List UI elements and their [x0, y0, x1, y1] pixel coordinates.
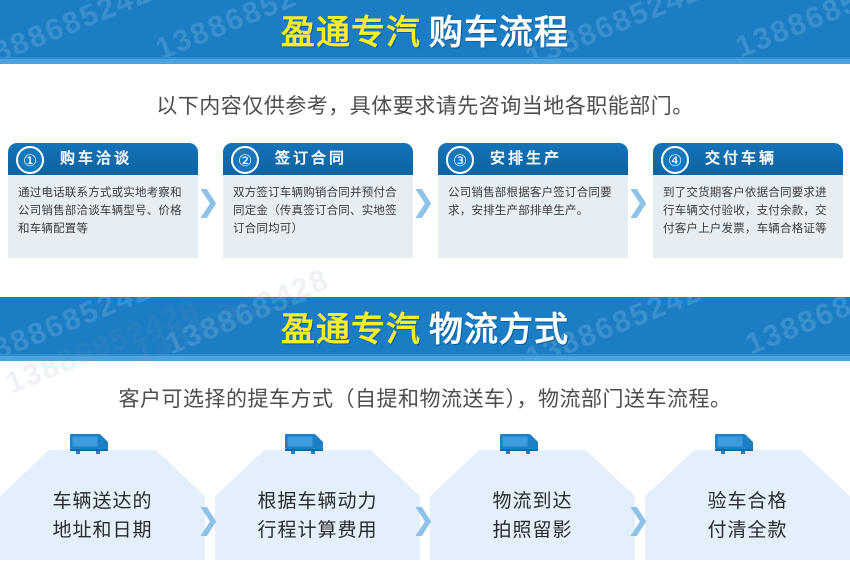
purchase-step-2-title: 签订合同 [275, 143, 347, 175]
logistics-step-3-line2: 拍照留影 [430, 516, 635, 545]
chevron-right-icon: ❯ [196, 505, 218, 535]
truck-icon [283, 431, 327, 457]
logistics-step-3[interactable]: 物流到达 拍照留影 [430, 425, 635, 560]
brand-name: 盈通专汽 [281, 302, 421, 351]
chevron-right-icon: ❯ [411, 505, 433, 535]
logistics-step-2-line2: 行程计算费用 [215, 516, 420, 545]
banner-stripe [0, 59, 850, 64]
logistics-step-4[interactable]: 验车合格 付清全款 [645, 425, 850, 560]
logistics-step-3-line1: 物流到达 [430, 487, 635, 516]
purchase-step-3-header: ③ 安排生产 [438, 143, 628, 175]
purchase-step-1-title: 购车洽谈 [60, 143, 132, 175]
logistics-step-2-label: 根据车辆动力 行程计算费用 [215, 487, 420, 545]
purchase-step-3[interactable]: ③ 安排生产 公司销售部根据客户签订合同要求，安排生产部排单生产。 [438, 143, 628, 258]
banner-stripe [0, 356, 850, 361]
truck-icon [498, 431, 542, 457]
purchase-step-4-number: ④ [661, 146, 689, 174]
truck-icon [713, 431, 757, 457]
logistics-step-4-line2: 付清全款 [645, 516, 850, 545]
purchase-step-3-body: 公司销售部根据客户签订合同要求，安排生产部排单生产。 [438, 175, 628, 258]
purchase-step-4[interactable]: ④ 交付车辆 到了交货期客户依据合同要求进行车辆交付验收，支付余款，交付客户上户… [653, 143, 843, 258]
logistics-steps-row: 车辆送达的 地址和日期 ❯ 根据车辆动力 行程计算费用 ❯ [0, 425, 850, 564]
logistics-step-4-label: 验车合格 付清全款 [645, 487, 850, 545]
banner-subject: 购车流程 [429, 5, 569, 54]
chevron-right-icon: ❯ [411, 187, 433, 217]
logistics-subtitle: 客户可选择的提车方式（自提和物流送车），物流部门送车流程。 [0, 383, 850, 413]
page-title-purchase: 盈通专汽 购车流程 [0, 0, 850, 59]
purchase-step-2[interactable]: ② 签订合同 双方签订车辆购销合同并预付合同定金（传真签订合同、实地签订合同均可… [223, 143, 413, 258]
purchase-steps-row: ① 购车洽谈 通过电话联系方式或实地考察和公司销售部洽谈车辆型号、价格和车辆配置… [0, 143, 850, 263]
logistics-step-1-line2: 地址和日期 [0, 516, 205, 545]
logistics-step-3-label: 物流到达 拍照留影 [430, 487, 635, 545]
logistics-step-2-line1: 根据车辆动力 [215, 487, 420, 516]
purchase-step-2-header: ② 签订合同 [223, 143, 413, 175]
purchase-step-4-body: 到了交货期客户依据合同要求进行车辆交付验收，支付余款，交付客户上户发票，车辆合格… [653, 175, 843, 258]
purchase-subtitle: 以下内容仅供参考，具体要求请先咨询当地各职能部门。 [0, 90, 850, 120]
logistics-step-4-line1: 验车合格 [645, 487, 850, 516]
purchase-step-3-number: ③ [446, 146, 474, 174]
purchase-step-1-header: ① 购车洽谈 [8, 143, 198, 175]
purchase-step-4-title: 交付车辆 [705, 143, 777, 175]
logistics-step-1-line1: 车辆送达的 [0, 487, 205, 516]
logistics-step-1-label: 车辆送达的 地址和日期 [0, 487, 205, 545]
purchase-step-2-number: ② [231, 146, 259, 174]
banner-logistics: 13886852428 13886852428 13886852428 1388… [0, 297, 850, 361]
chevron-right-icon: ❯ [626, 187, 648, 217]
purchase-step-1-number: ① [16, 146, 44, 174]
purchase-step-1[interactable]: ① 购车洽谈 通过电话联系方式或实地考察和公司销售部洽谈车辆型号、价格和车辆配置… [8, 143, 198, 258]
truck-icon [68, 431, 112, 457]
logistics-step-2[interactable]: 根据车辆动力 行程计算费用 [215, 425, 420, 560]
purchase-step-1-body: 通过电话联系方式或实地考察和公司销售部洽谈车辆型号、价格和车辆配置等 [8, 175, 198, 258]
banner-purchase-process: 13886852428 13886852428 13886852428 1388… [0, 0, 850, 64]
chevron-right-icon: ❯ [626, 505, 648, 535]
banner-subject: 物流方式 [429, 302, 569, 351]
purchase-step-2-body: 双方签订车辆购销合同并预付合同定金（传真签订合同、实地签订合同均可） [223, 175, 413, 258]
chevron-right-icon: ❯ [196, 187, 218, 217]
page-title-logistics: 盈通专汽 物流方式 [0, 297, 850, 356]
purchase-step-3-title: 安排生产 [490, 143, 562, 175]
purchase-step-4-header: ④ 交付车辆 [653, 143, 843, 175]
brand-name: 盈通专汽 [281, 5, 421, 54]
logistics-step-1[interactable]: 车辆送达的 地址和日期 [0, 425, 205, 560]
